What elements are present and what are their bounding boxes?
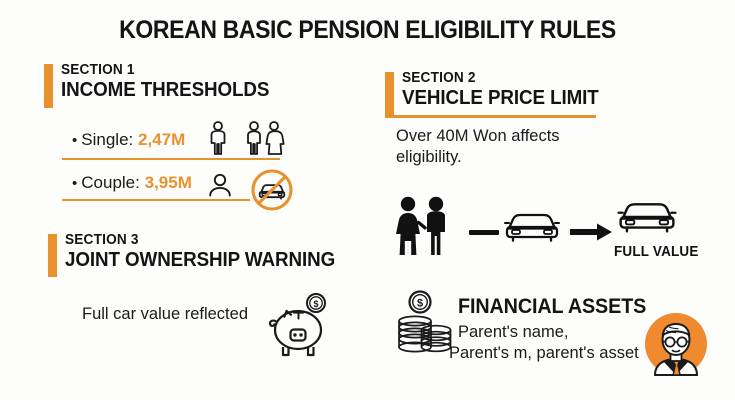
- section-3-accent-bar: [48, 234, 57, 277]
- elderly-man-avatar-icon: [645, 313, 707, 375]
- row-amount-couple: 3,95M: [145, 173, 192, 192]
- coins-stack-icon: $: [398, 290, 454, 360]
- svg-text:$: $: [417, 298, 423, 310]
- section-2-underline: [385, 115, 596, 118]
- section-2-heading-block: SECTION 2 VEHICLE PRICE LIMIT: [385, 70, 655, 110]
- financial-assets-line-1: Parent's name,: [458, 322, 568, 343]
- income-row-couple: •Couple: 3,95M: [72, 173, 192, 193]
- section-1-kicker: SECTION 1: [61, 62, 289, 79]
- section-1-accent-bar: [44, 64, 53, 108]
- full-value-caption: FULL VALUE: [614, 243, 699, 260]
- section-2-body: Over 40M Won affects eligibility.: [396, 126, 596, 168]
- row-bullet: •: [72, 132, 77, 149]
- financial-assets-line-2: Parent's m, parent's asset: [449, 343, 639, 364]
- infographic-canvas: KOREAN BASIC PENSION ELIGIBILITY RULES S…: [0, 0, 735, 400]
- row-label-single: Single:: [81, 130, 133, 149]
- couple-holding-hands-icon: [392, 196, 454, 258]
- car-icon: [505, 209, 559, 245]
- section-2-kicker: SECTION 2: [402, 70, 640, 87]
- section-3-title: JOINT OWNERSHIP WARNING: [65, 249, 331, 272]
- income-divider-1: [62, 158, 280, 160]
- section-3-heading-block: SECTION 3 JOINT OWNERSHIP WARNING: [48, 232, 348, 272]
- section-2-accent-bar: [385, 72, 394, 115]
- income-divider-2: [62, 199, 250, 201]
- income-row-single: •Single: 2,47M: [72, 130, 185, 150]
- car-icon: [618, 198, 676, 236]
- financial-assets-title: FINANCIAL ASSETS: [458, 295, 646, 319]
- section-3-body: Full car value reflected: [82, 304, 248, 325]
- section-2-title: VEHICLE PRICE LIMIT: [402, 87, 640, 110]
- person-icon: [207, 121, 229, 155]
- section-1-title: INCOME THRESHOLDS: [61, 79, 289, 102]
- row-bullet: •: [72, 175, 77, 192]
- row-label-couple: Couple:: [81, 173, 140, 192]
- piggy-bank-icon: $: [264, 292, 336, 358]
- section-3-kicker: SECTION 3: [65, 232, 331, 249]
- couple-icon: [244, 121, 286, 155]
- arrow-right-icon: [570, 222, 612, 242]
- no-car-icon: [250, 168, 294, 212]
- row-amount-single: 2,47M: [138, 130, 185, 149]
- connector-line: [469, 230, 499, 236]
- section-1-heading-block: SECTION 1 INCOME THRESHOLDS: [44, 62, 304, 102]
- svg-text:$: $: [313, 299, 318, 309]
- page-title: KOREAN BASIC PENSION ELIGIBILITY RULES: [29, 16, 705, 45]
- user-avatar-icon: [207, 173, 233, 197]
